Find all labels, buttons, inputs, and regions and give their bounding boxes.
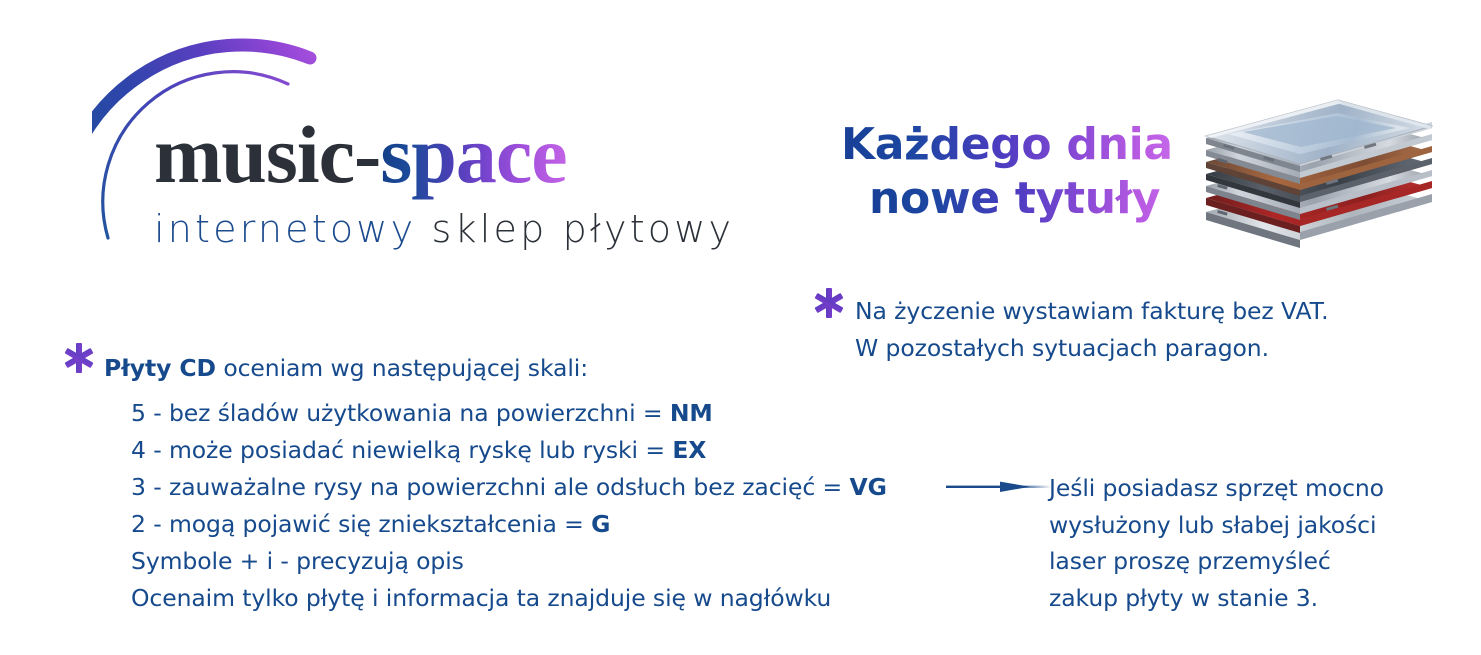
scale-item-grade: VG: [850, 473, 887, 501]
laser-note: Jeśli posiadasz sprzęt mocno wysłużony l…: [1049, 477, 1384, 610]
headline-line-2: nowe tytuły: [869, 172, 1171, 226]
banner-page: music-space internetowy sklep płytowy Ka…: [0, 0, 1481, 655]
scale-item-grade: EX: [672, 436, 706, 464]
vat-note: Na życzenie wystawiam fakturę bez VAT. W…: [855, 300, 1328, 360]
list-item: 2 - mogą pojawić się zniekształcenia = G: [131, 513, 887, 537]
scale-note-symbols: Symbole + i - precyzują opis: [131, 550, 887, 574]
scale-heading: Płyty CD oceniam wg następującej skali:: [104, 357, 588, 381]
logo-tagline-sklep-plytowy: sklep płytowy: [416, 207, 734, 251]
list-item: 5 - bez śladów użytkowania na powierzchn…: [131, 402, 887, 426]
scale-item-text: 3 - zauważalne rysy na powierzchni ale o…: [131, 473, 850, 501]
scale-item-text: 4 - może posiadać niewielką ryskę lub ry…: [131, 436, 672, 464]
site-logo[interactable]: music-space internetowy sklep płytowy: [92, 22, 772, 252]
logo-tagline-internetowy: internetowy: [154, 207, 416, 251]
cd-jewel-case-stack-photo: [1188, 62, 1440, 254]
asterisk-icon: [62, 341, 96, 375]
laser-note-line-4: zakup płyty w stanie 3.: [1049, 587, 1384, 611]
asterisk-icon: [812, 286, 846, 320]
headline: Każdego dnia nowe tytuły: [841, 118, 1171, 225]
list-item: 3 - zauważalne rysy na powierzchni ale o…: [131, 476, 887, 500]
vat-note-line-1: Na życzenie wystawiam fakturę bez VAT.: [855, 300, 1328, 324]
logo-wordmark-space: space: [380, 109, 566, 200]
scale-item-text: 5 - bez śladów użytkowania na powierzchn…: [131, 399, 670, 427]
laser-note-line-3: laser proszę przemyśleć: [1049, 550, 1384, 574]
logo-wordmark: music-space: [154, 114, 567, 196]
vat-note-line-2: W pozostałych sytuacjach paragon.: [855, 337, 1328, 361]
scale-item-text: 2 - mogą pojawić się zniekształcenia =: [131, 510, 591, 538]
scale-heading-rest: oceniam wg następującej skali:: [216, 354, 588, 382]
laser-note-line-2: wysłużony lub słabej jakości: [1049, 514, 1384, 538]
arrow-right-icon: [946, 479, 1052, 495]
logo-wordmark-music: music-: [154, 109, 380, 200]
laser-note-line-1: Jeśli posiadasz sprzęt mocno: [1049, 477, 1384, 501]
scale-heading-bold: Płyty CD: [104, 354, 216, 382]
scale-list: 5 - bez śladów użytkowania na powierzchn…: [131, 402, 887, 611]
scale-item-grade: G: [591, 510, 610, 538]
scale-note-header: Ocenaim tylko płytę i informacja ta znaj…: [131, 587, 887, 611]
list-item: 4 - może posiadać niewielką ryskę lub ry…: [131, 439, 887, 463]
headline-line-1: Każdego dnia: [841, 118, 1171, 172]
logo-tagline: internetowy sklep płytowy: [154, 210, 734, 248]
scale-item-grade: NM: [670, 399, 713, 427]
